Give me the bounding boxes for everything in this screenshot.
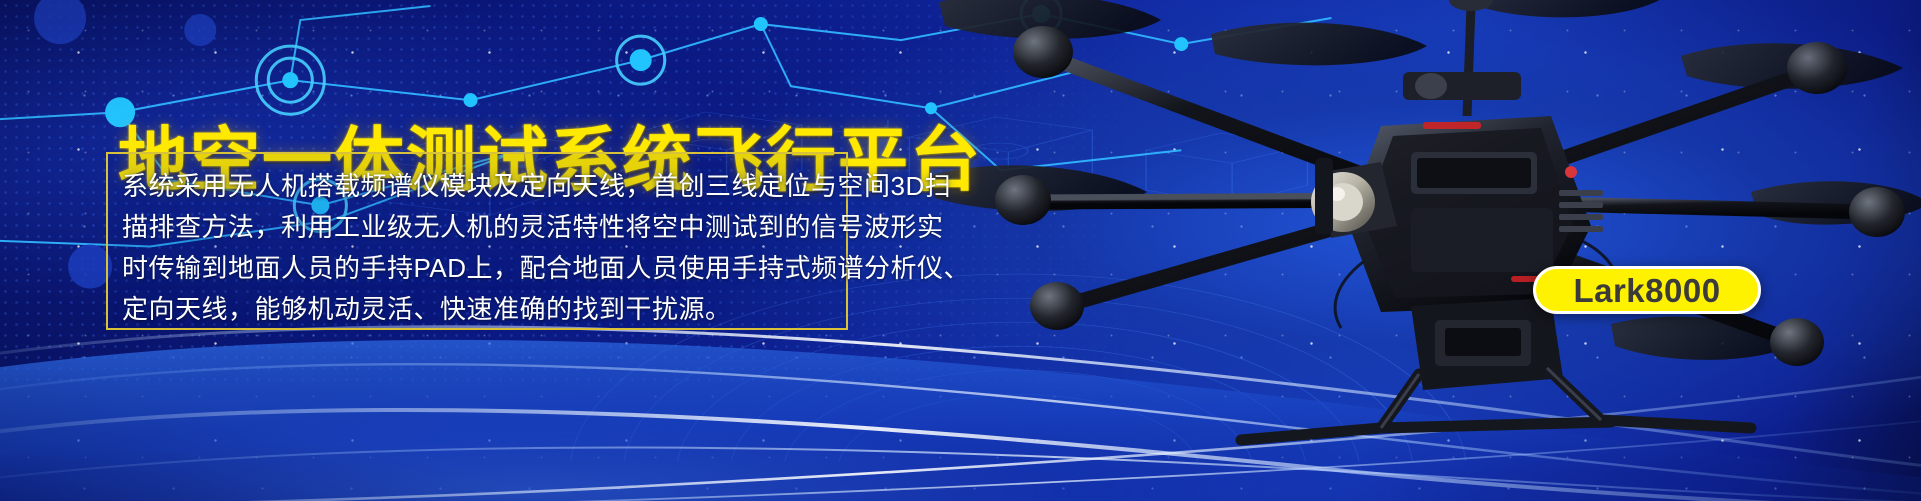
- product-badge: Lark8000: [1533, 266, 1761, 314]
- promo-banner: 地空一体测试系统飞行平台 系统采用无人机搭载频谱仪模块及定向天线，首创三线定位与…: [0, 0, 1921, 501]
- product-badge-label: Lark8000: [1573, 274, 1720, 307]
- description-line: 时传输到地面人员的手持PAD上，配合地面人员使用手持式频谱分析仪、: [122, 248, 832, 289]
- description-line: 描排查方法，利用工业级无人机的灵活特性将空中测试到的信号波形实: [122, 207, 832, 248]
- description-line: 系统采用无人机搭载频谱仪模块及定向天线，首创三线定位与空间3D扫: [122, 166, 832, 207]
- description-box: 系统采用无人机搭载频谱仪模块及定向天线，首创三线定位与空间3D扫 描排查方法，利…: [106, 152, 848, 330]
- description-line: 定向天线，能够机动灵活、快速准确的找到干扰源。: [122, 289, 832, 330]
